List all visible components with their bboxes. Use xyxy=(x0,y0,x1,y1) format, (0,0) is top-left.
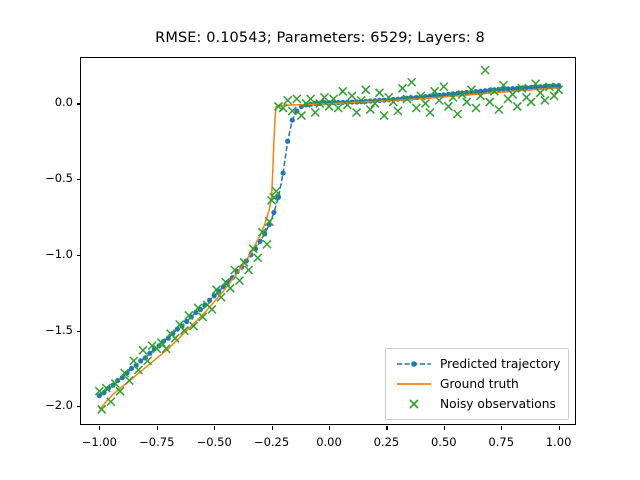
solid-line-icon xyxy=(394,374,434,394)
legend-item[interactable]: Ground truth xyxy=(394,374,560,394)
legend-label: Noisy observations xyxy=(434,397,556,411)
x-tick-mark xyxy=(501,426,502,430)
x-tick-label: −1.00 xyxy=(69,435,129,449)
legend-label: Predicted trajectory xyxy=(434,357,560,371)
x-tick-label: 1.00 xyxy=(529,435,589,449)
y-tick-mark xyxy=(77,331,81,332)
x-tick-mark xyxy=(214,426,215,430)
y-tick-label: −0.5 xyxy=(13,171,73,185)
chart-title: RMSE: 0.10543; Parameters: 6529; Layers:… xyxy=(0,30,640,46)
legend-label: Ground truth xyxy=(434,377,519,391)
y-tick-label: −1.5 xyxy=(13,323,73,337)
y-tick-mark xyxy=(77,103,81,104)
x-tick-label: −0.50 xyxy=(184,435,244,449)
y-tick-mark xyxy=(77,179,81,180)
x-tick-mark xyxy=(99,426,100,430)
y-tick-label: −1.0 xyxy=(13,247,73,261)
y-tick-label: −2.0 xyxy=(13,398,73,412)
legend-item[interactable]: Predicted trajectory xyxy=(394,354,560,374)
x-tick-mark xyxy=(559,426,560,430)
x-tick-mark xyxy=(386,426,387,430)
x-tick-mark xyxy=(444,426,445,430)
x-tick-label: −0.25 xyxy=(242,435,302,449)
y-tick-mark xyxy=(77,406,81,407)
x-marker-icon xyxy=(394,394,434,414)
legend-item[interactable]: Noisy observations xyxy=(394,394,560,414)
x-tick-mark xyxy=(157,426,158,430)
x-tick-label: 0.00 xyxy=(299,435,359,449)
x-tick-label: 0.25 xyxy=(356,435,416,449)
figure: RMSE: 0.10543; Parameters: 6529; Layers:… xyxy=(0,0,640,480)
x-tick-mark xyxy=(272,426,273,430)
x-tick-mark xyxy=(329,426,330,430)
y-tick-label: 0.0 xyxy=(13,95,73,109)
dashed-line-icon xyxy=(394,354,434,374)
x-tick-label: 0.50 xyxy=(414,435,474,449)
x-tick-label: −0.75 xyxy=(127,435,187,449)
y-tick-mark xyxy=(77,255,81,256)
x-tick-label: 0.75 xyxy=(471,435,531,449)
chart-legend: Predicted trajectoryGround truthNoisy ob… xyxy=(385,348,569,420)
